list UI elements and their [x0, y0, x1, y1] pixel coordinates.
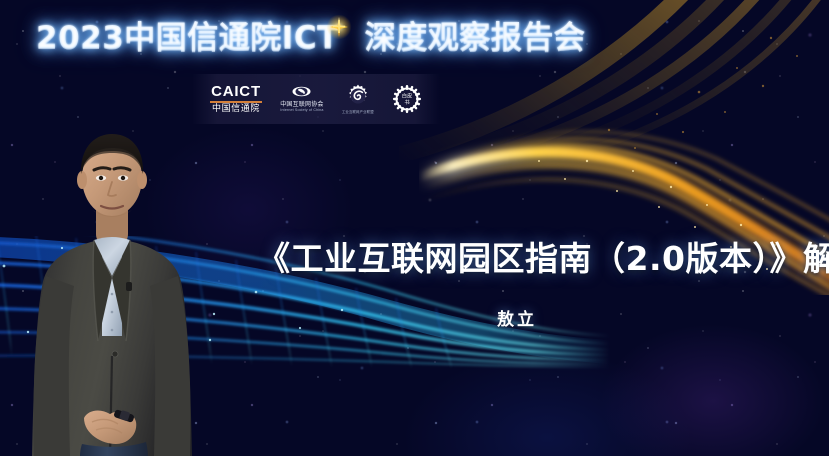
caict-logo: CAICT 中国信通院: [210, 84, 262, 114]
sponsor-logo-band: CAICT 中国信通院 中国互联网协会 Internet Society of …: [192, 74, 440, 124]
white-paper-gear-badge-icon: 白皮 书: [392, 84, 422, 114]
isc-chinese-name: 中国互联网协会: [280, 101, 323, 109]
header-title-prefix: 2023中国信通院ICT: [36, 20, 339, 56]
aii-chinese-name: 工业互联网产业联盟: [342, 110, 374, 114]
event-header-title: 2023中国信通院ICT深度观察报告会: [36, 12, 585, 57]
header-title-suffix: 深度观察报告会: [365, 20, 586, 56]
caict-acronym: CAICT: [211, 84, 261, 99]
isc-mark-icon: [292, 85, 311, 98]
industrial-internet-industry-alliance-logo: 工业互联网产业联盟: [342, 84, 374, 114]
presenter-photo: [22, 126, 202, 456]
caict-chinese-name: 中国信通院: [212, 105, 260, 114]
internet-society-of-china-logo: 中国互联网协会 Internet Society of China: [280, 85, 323, 113]
badge-text-line2: 书: [404, 98, 409, 106]
isc-english-name: Internet Society of China: [280, 108, 323, 113]
presentation-title: 《工业互联网园区指南（2.0版本）》解读: [257, 232, 829, 280]
speaker-name: 敖立: [497, 305, 537, 330]
gear-badge-logo: 白皮 书: [392, 84, 422, 114]
badge-text-line1: 白皮: [402, 92, 413, 100]
caict-underline: [210, 101, 262, 103]
presenter-figure: [22, 126, 202, 456]
aii-swirl-gear-icon: [346, 84, 370, 108]
presentation-slide: 2023中国信通院ICT深度观察报告会 CAICT 中国信通院: [0, 0, 829, 456]
